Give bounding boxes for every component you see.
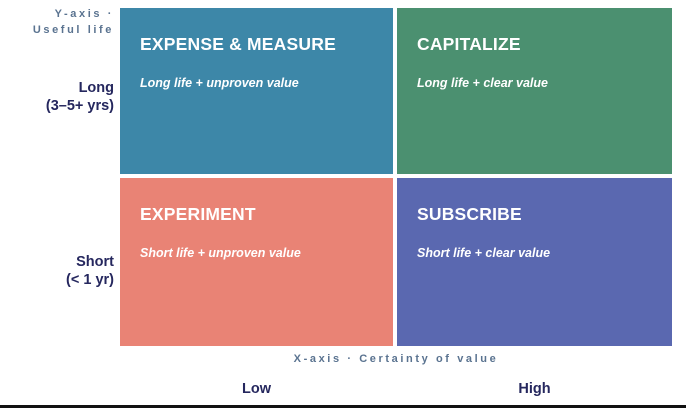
x-axis-tick-low: Low xyxy=(120,381,393,397)
y-axis-tick-short-sublabel: (< 1 yr) xyxy=(0,271,114,289)
quadrant-experiment-subtitle: Short life + unproven value xyxy=(140,245,373,261)
quadrant-experiment-title: EXPERIMENT xyxy=(140,204,373,224)
y-axis-title-line-2: Useful life xyxy=(0,22,114,38)
y-axis-tick-long: Long (3–5+ yrs) xyxy=(0,79,114,115)
matrix-grid: EXPENSE & MEASURE Long life + unproven v… xyxy=(120,8,672,346)
x-axis-tick-high: High xyxy=(397,381,672,397)
y-axis-title-line-1: Y-axis · xyxy=(0,6,114,22)
x-axis-title: X-axis · Certainty of value xyxy=(120,353,672,365)
quadrant-capitalize-title: CAPITALIZE xyxy=(417,34,652,54)
quadrant-capitalize-subtitle: Long life + clear value xyxy=(417,75,652,91)
y-axis-tick-long-sublabel: (3–5+ yrs) xyxy=(0,97,114,115)
quadrant-subscribe-subtitle: Short life + clear value xyxy=(417,245,652,261)
quadrant-capitalize[interactable]: CAPITALIZE Long life + clear value xyxy=(397,8,672,174)
quadrant-matrix-diagram: Y-axis · Useful life Long (3–5+ yrs) Sho… xyxy=(0,0,686,408)
quadrant-expense-measure[interactable]: EXPENSE & MEASURE Long life + unproven v… xyxy=(120,8,393,174)
y-axis-tick-short-label: Short xyxy=(0,253,114,271)
quadrant-subscribe-title: SUBSCRIBE xyxy=(417,204,652,224)
quadrant-experiment[interactable]: EXPERIMENT Short life + unproven value xyxy=(120,178,393,346)
quadrant-expense-measure-title: EXPENSE & MEASURE xyxy=(140,34,373,54)
quadrant-expense-measure-subtitle: Long life + unproven value xyxy=(140,75,373,91)
y-axis-title: Y-axis · Useful life xyxy=(0,6,114,38)
quadrant-subscribe[interactable]: SUBSCRIBE Short life + clear value xyxy=(397,178,672,346)
y-axis-tick-short: Short (< 1 yr) xyxy=(0,253,114,289)
y-axis-tick-long-label: Long xyxy=(0,79,114,97)
